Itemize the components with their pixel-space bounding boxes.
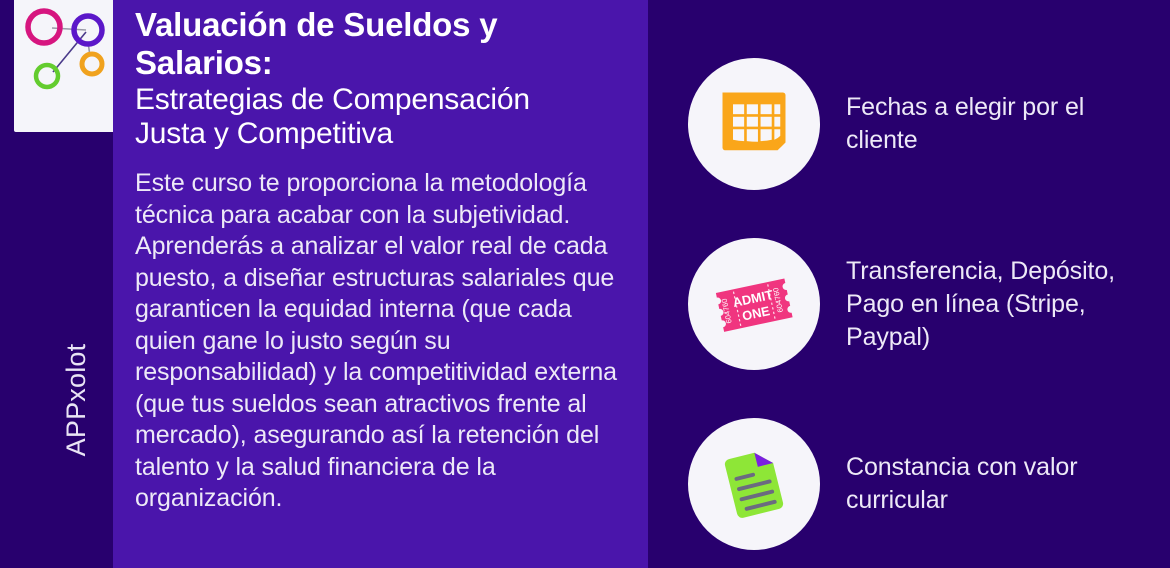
admit-one-ticket-icon: ADMIT ONE 604760 604760 xyxy=(712,262,796,346)
brand-name-vertical: APPxolot xyxy=(56,320,96,480)
subtitle-line-2: Justa y Competitiva xyxy=(135,117,626,152)
feature-label-certificate: Constancia con valor curricular xyxy=(846,451,1146,517)
feature-item-dates: Fechas a elegir por el cliente xyxy=(688,34,1170,214)
feature-list: Fechas a elegir por el cliente ADMIT ONE… xyxy=(688,0,1170,568)
feature-badge-dates xyxy=(688,58,820,190)
feature-label-payment: Transferencia, Depósito, Pago en línea (… xyxy=(846,255,1146,354)
calendar-icon xyxy=(712,82,796,166)
page-title: Valuación de Sueldos y Salarios: Estrate… xyxy=(135,6,626,152)
feature-badge-certificate xyxy=(688,418,820,550)
certificate-document-icon xyxy=(712,442,796,526)
title-line-2: Salarios: xyxy=(135,44,626,82)
feature-label-dates: Fechas a elegir por el cliente xyxy=(846,91,1146,157)
connected-nodes-logo-icon xyxy=(14,0,118,112)
title-line-1: Valuación de Sueldos y xyxy=(135,6,626,44)
course-description: Este curso te proporciona la metodología… xyxy=(135,168,626,515)
feature-badge-payment: ADMIT ONE 604760 604760 xyxy=(688,238,820,370)
feature-item-payment: ADMIT ONE 604760 604760 Transferencia, D… xyxy=(688,214,1170,394)
feature-item-certificate: Constancia con valor curricular xyxy=(688,394,1170,568)
brand-logo-card xyxy=(14,0,118,132)
promo-slide: APPxolot Valuación de Sueldos y Salarios… xyxy=(0,0,1170,568)
subtitle-line-1: Estrategias de Compensación xyxy=(135,83,626,118)
content-panel: Valuación de Sueldos y Salarios: Estrate… xyxy=(113,0,648,568)
